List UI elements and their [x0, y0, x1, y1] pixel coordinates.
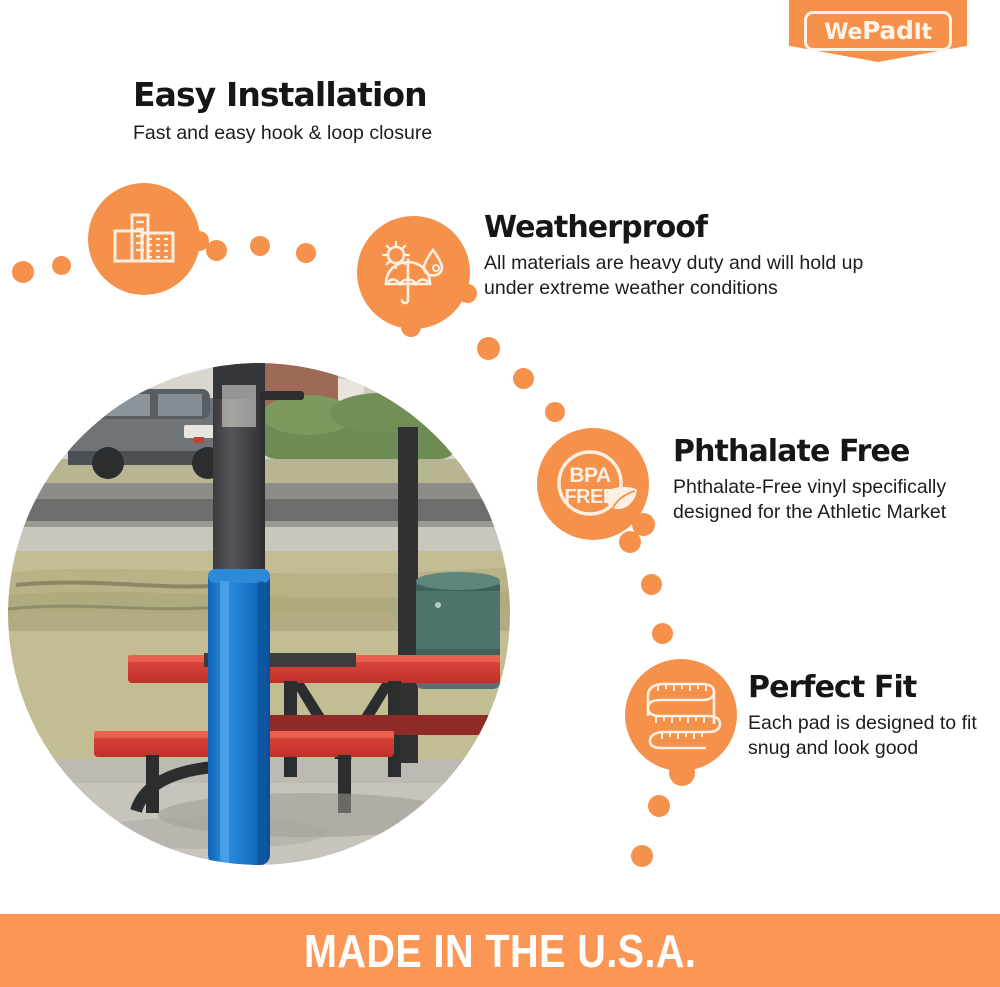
building-icon [88, 183, 200, 295]
trail-dot [513, 368, 534, 389]
trail-dot [12, 261, 34, 283]
feature-description-easy-installation: Fast and easy hook & loop closure [133, 121, 603, 147]
logo-text-we: We [824, 20, 862, 45]
icon-accent-blob [632, 513, 655, 536]
feature-title-easy-installation: Easy Installation [133, 78, 603, 113]
feature-description-weatherproof: All materials are heavy duty and will ho… [484, 251, 904, 303]
trail-dot [545, 402, 565, 422]
trail-dot [631, 845, 653, 867]
feature-title-phthalate-free: Phthalate Free [673, 436, 993, 468]
logo-text-it: It [914, 20, 932, 45]
feature-title-weatherproof: Weatherproof [484, 212, 904, 244]
feature-description-phthalate-free: Phthalate-Free vinyl specifically design… [673, 475, 993, 527]
feature-block-phthalate-free: Phthalate Free Phthalate-Free vinyl spec… [673, 436, 993, 526]
made-in-usa-banner: MADE IN THE U.S.A. [0, 914, 1000, 987]
trail-dot [477, 337, 500, 360]
made-in-usa-text: MADE IN THE U.S.A. [304, 924, 696, 978]
measuring-tape-icon [625, 659, 737, 771]
trail-dot [652, 623, 673, 644]
bpa-free-leaf-icon: BPA FREE [537, 428, 649, 540]
feature-block-perfect-fit: Perfect Fit Each pad is designed to fit … [748, 672, 998, 762]
trail-dot [648, 795, 670, 817]
product-photo [8, 363, 510, 865]
sun-umbrella-raindrop-icon [357, 216, 470, 329]
bpa-label-line1: BPA [569, 464, 611, 487]
icon-accent-blob [458, 284, 477, 303]
brand-logo[interactable]: WePadIt [789, 0, 967, 62]
icon-accent-blob [189, 231, 209, 251]
feature-title-perfect-fit: Perfect Fit [748, 672, 998, 704]
logo-outline-plate: WePadIt [804, 11, 952, 51]
trail-dot [641, 574, 662, 595]
feature-block-weatherproof: Weatherproof All materials are heavy dut… [484, 212, 904, 302]
trail-dot [250, 236, 270, 256]
feature-block-easy-installation: Easy Installation Fast and easy hook & l… [133, 78, 603, 147]
trail-dot [52, 256, 71, 275]
infographic-page: WePadIt Easy Installation Fast and easy … [0, 0, 1000, 987]
icon-accent-blob [401, 317, 421, 337]
trail-dot [296, 243, 316, 263]
icon-accent-blob [669, 760, 695, 786]
logo-text-pad: Pad [862, 16, 914, 45]
logo-text: WePadIt [824, 18, 931, 44]
feature-description-perfect-fit: Each pad is designed to fit snug and loo… [748, 711, 998, 763]
trail-dot [206, 240, 227, 261]
